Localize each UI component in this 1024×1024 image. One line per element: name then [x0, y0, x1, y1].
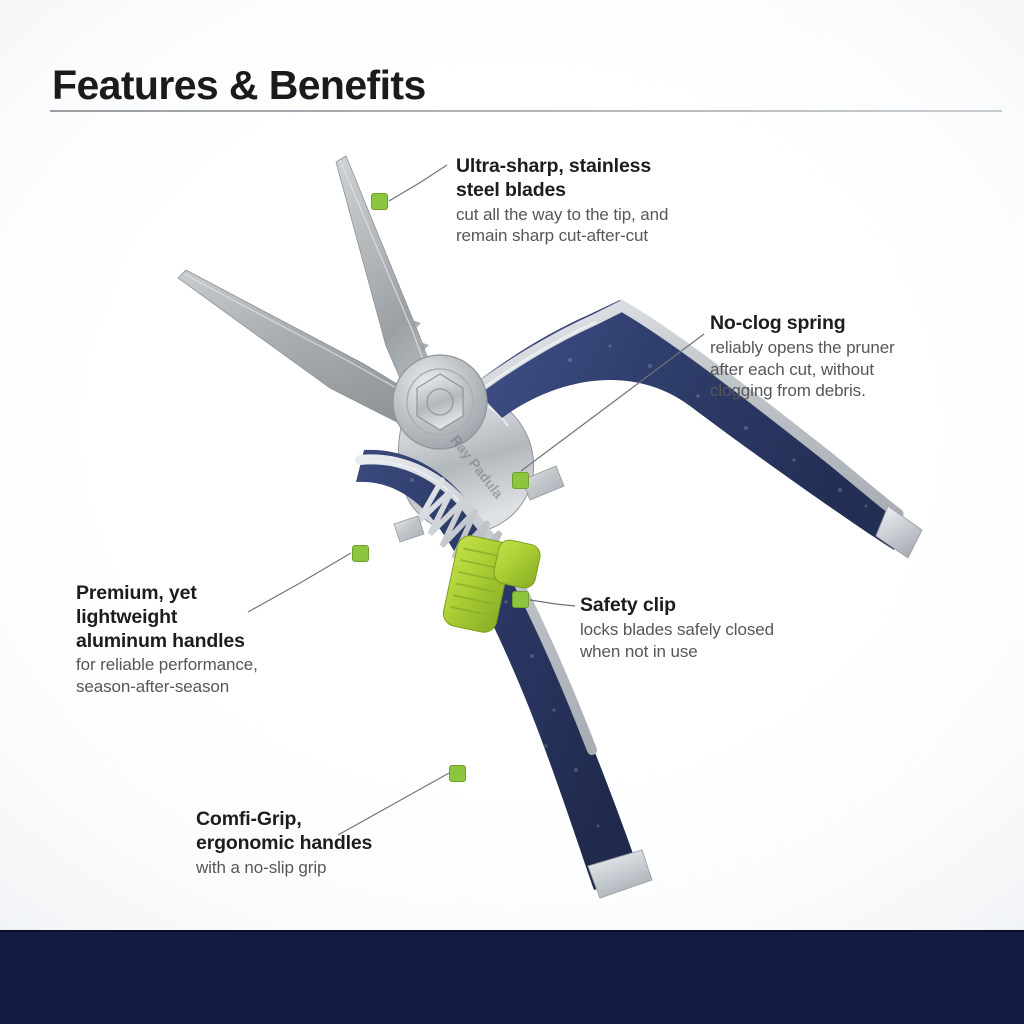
callout-comfi-grip-body: with a no-slip grip [196, 857, 476, 879]
callout-spring-title: No-clog spring [710, 312, 970, 336]
callout-aluminum-handles-body: for reliable performance, season-after-s… [76, 654, 336, 698]
marker-spring[interactable] [512, 472, 529, 489]
callout-blades: Ultra-sharp, stainless steel blades cut … [456, 155, 756, 247]
callout-blades-title: Ultra-sharp, stainless steel blades [456, 155, 756, 203]
marker-safety-clip[interactable] [512, 591, 529, 608]
product-image-pruner: Ray Padula [150, 150, 930, 910]
infographic-page: Features & Benefits [0, 0, 1024, 1024]
callout-safety-clip-title: Safety clip [580, 594, 840, 618]
callout-blades-body: cut all the way to the tip, and remain s… [456, 204, 756, 248]
callout-aluminum-handles-title: Premium, yet lightweight aluminum handle… [76, 582, 336, 653]
callout-aluminum-handles: Premium, yet lightweight aluminum handle… [76, 582, 336, 698]
header: Features & Benefits [0, 0, 1024, 120]
marker-comfi-grip[interactable] [449, 765, 466, 782]
callout-safety-clip: Safety clip locks blades safely closed w… [580, 594, 840, 662]
title-divider [50, 110, 1002, 112]
callout-spring-body: reliably opens the pruner after each cut… [710, 337, 970, 402]
marker-blades[interactable] [371, 193, 388, 210]
pivot-bolt [393, 355, 487, 449]
page-title: Features & Benefits [52, 62, 426, 109]
callout-safety-clip-body: locks blades safely closed when not in u… [580, 619, 840, 663]
callout-comfi-grip-title: Comfi-Grip, ergonomic handles [196, 808, 476, 856]
callout-comfi-grip: Comfi-Grip, ergonomic handles with a no-… [196, 808, 476, 878]
pruner-illustration: Ray Padula [150, 150, 930, 910]
marker-aluminum[interactable] [352, 545, 369, 562]
callout-spring: No-clog spring reliably opens the pruner… [710, 312, 970, 402]
bottom-navy-band [0, 930, 1024, 1024]
